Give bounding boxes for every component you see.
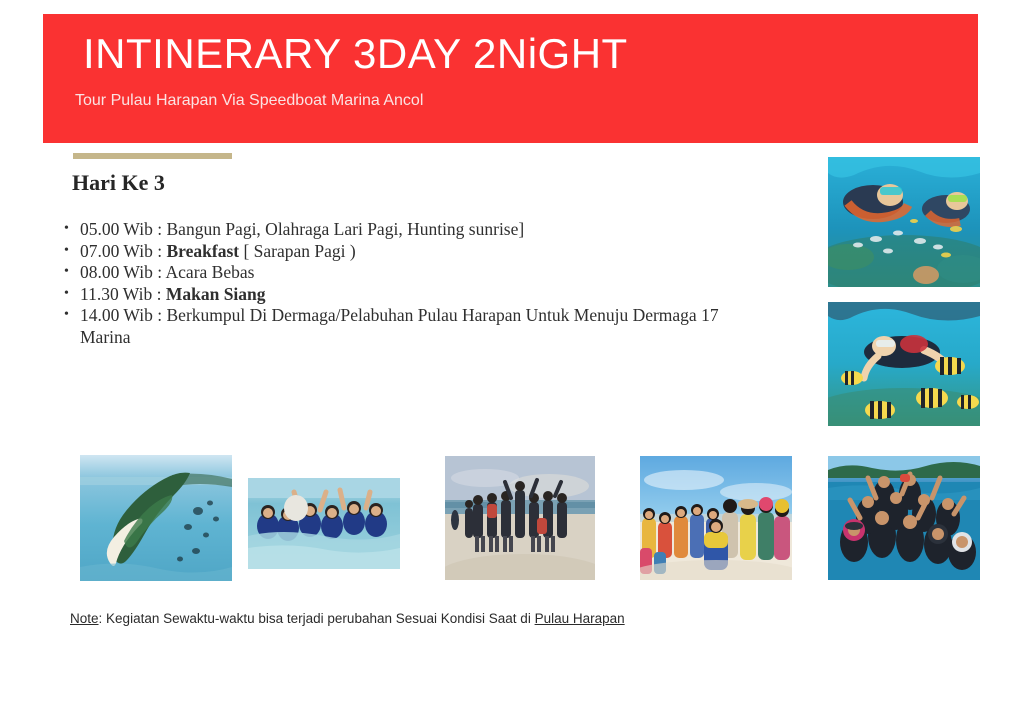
page-title: INTINERARY 3DAY 2NiGHT bbox=[83, 28, 628, 80]
footer-note-text: Kegiatan Sewaktu-waktu bisa terjadi peru… bbox=[106, 611, 535, 626]
photo-snorkel-pair bbox=[828, 157, 980, 287]
group-on-beach-illustration bbox=[445, 456, 595, 580]
schedule-time: 08.00 Wib bbox=[80, 262, 153, 282]
schedule-time: 05.00 Wib bbox=[80, 219, 153, 239]
island-aerial-illustration bbox=[80, 455, 232, 581]
schedule-separator: : bbox=[152, 284, 166, 304]
list-item: 08.00 Wib : Acara Bebas bbox=[63, 262, 723, 284]
schedule-separator: : bbox=[153, 241, 167, 261]
photo-group-sunny-content bbox=[640, 456, 792, 580]
photo-group-sunny bbox=[640, 456, 792, 580]
group-in-water-illustration bbox=[248, 478, 400, 569]
photo-group-water-content bbox=[248, 478, 400, 569]
schedule-list: 05.00 Wib : Bangun Pagi, Olahraga Lari P… bbox=[63, 219, 723, 348]
footer-note-location: Pulau Harapan bbox=[535, 611, 625, 626]
photo-group-boat bbox=[828, 456, 980, 580]
section-heading-day: Hari Ke 3 bbox=[72, 169, 165, 197]
list-item: 14.00 Wib : Berkumpul Di Dermaga/Pelabuh… bbox=[63, 305, 723, 348]
schedule-separator: : bbox=[153, 262, 166, 282]
photo-snorkel-pair-content bbox=[828, 157, 980, 287]
photo-snorkel-fish bbox=[828, 302, 980, 426]
photo-snorkel-fish-content bbox=[828, 302, 980, 426]
schedule-time: 07.00 Wib bbox=[80, 241, 153, 261]
list-item: 11.30 Wib : Makan Siang bbox=[63, 284, 723, 306]
schedule-text: Acara Bebas bbox=[166, 262, 255, 282]
schedule-separator: : bbox=[153, 219, 167, 239]
photo-island-aerial bbox=[80, 455, 232, 581]
snorkeling-pair-illustration bbox=[828, 157, 980, 287]
header-banner: INTINERARY 3DAY 2NiGHT Tour Pulau Harapa… bbox=[43, 14, 978, 143]
schedule-text-bold: Makan Siang bbox=[166, 284, 266, 304]
schedule-time: 11.30 Wib bbox=[80, 284, 152, 304]
footer-note-colon: : bbox=[99, 611, 107, 626]
schedule-time: 14.00 Wib bbox=[80, 305, 153, 325]
schedule-text-bold: Breakfast bbox=[167, 241, 240, 261]
footer-note: Note: Kegiatan Sewaktu-waktu bisa terjad… bbox=[70, 609, 625, 628]
photo-group-water bbox=[248, 478, 400, 569]
photo-island-aerial-content bbox=[80, 455, 232, 581]
snorkeling-fish-illustration bbox=[828, 302, 980, 426]
schedule-separator: : bbox=[153, 305, 167, 325]
group-on-boat-illustration bbox=[828, 456, 980, 580]
schedule-text: Berkumpul Di Dermaga/Pelabuhan Pulau Har… bbox=[80, 305, 719, 347]
section-accent-bar bbox=[73, 153, 232, 159]
schedule-text: Bangun Pagi, Olahraga Lari Pagi, Hunting… bbox=[167, 219, 525, 239]
photo-group-beach-content bbox=[445, 456, 595, 580]
page-subtitle: Tour Pulau Harapan Via Speedboat Marina … bbox=[75, 90, 423, 112]
list-item: 05.00 Wib : Bangun Pagi, Olahraga Lari P… bbox=[63, 219, 723, 241]
photo-group-beach bbox=[445, 456, 595, 580]
schedule-text: [ Sarapan Pagi ) bbox=[239, 241, 356, 261]
list-item: 07.00 Wib : Breakfast [ Sarapan Pagi ) bbox=[63, 241, 723, 263]
photo-group-boat-content bbox=[828, 456, 980, 580]
footer-note-label: Note bbox=[70, 611, 99, 626]
group-sunny-beach-illustration bbox=[640, 456, 792, 580]
